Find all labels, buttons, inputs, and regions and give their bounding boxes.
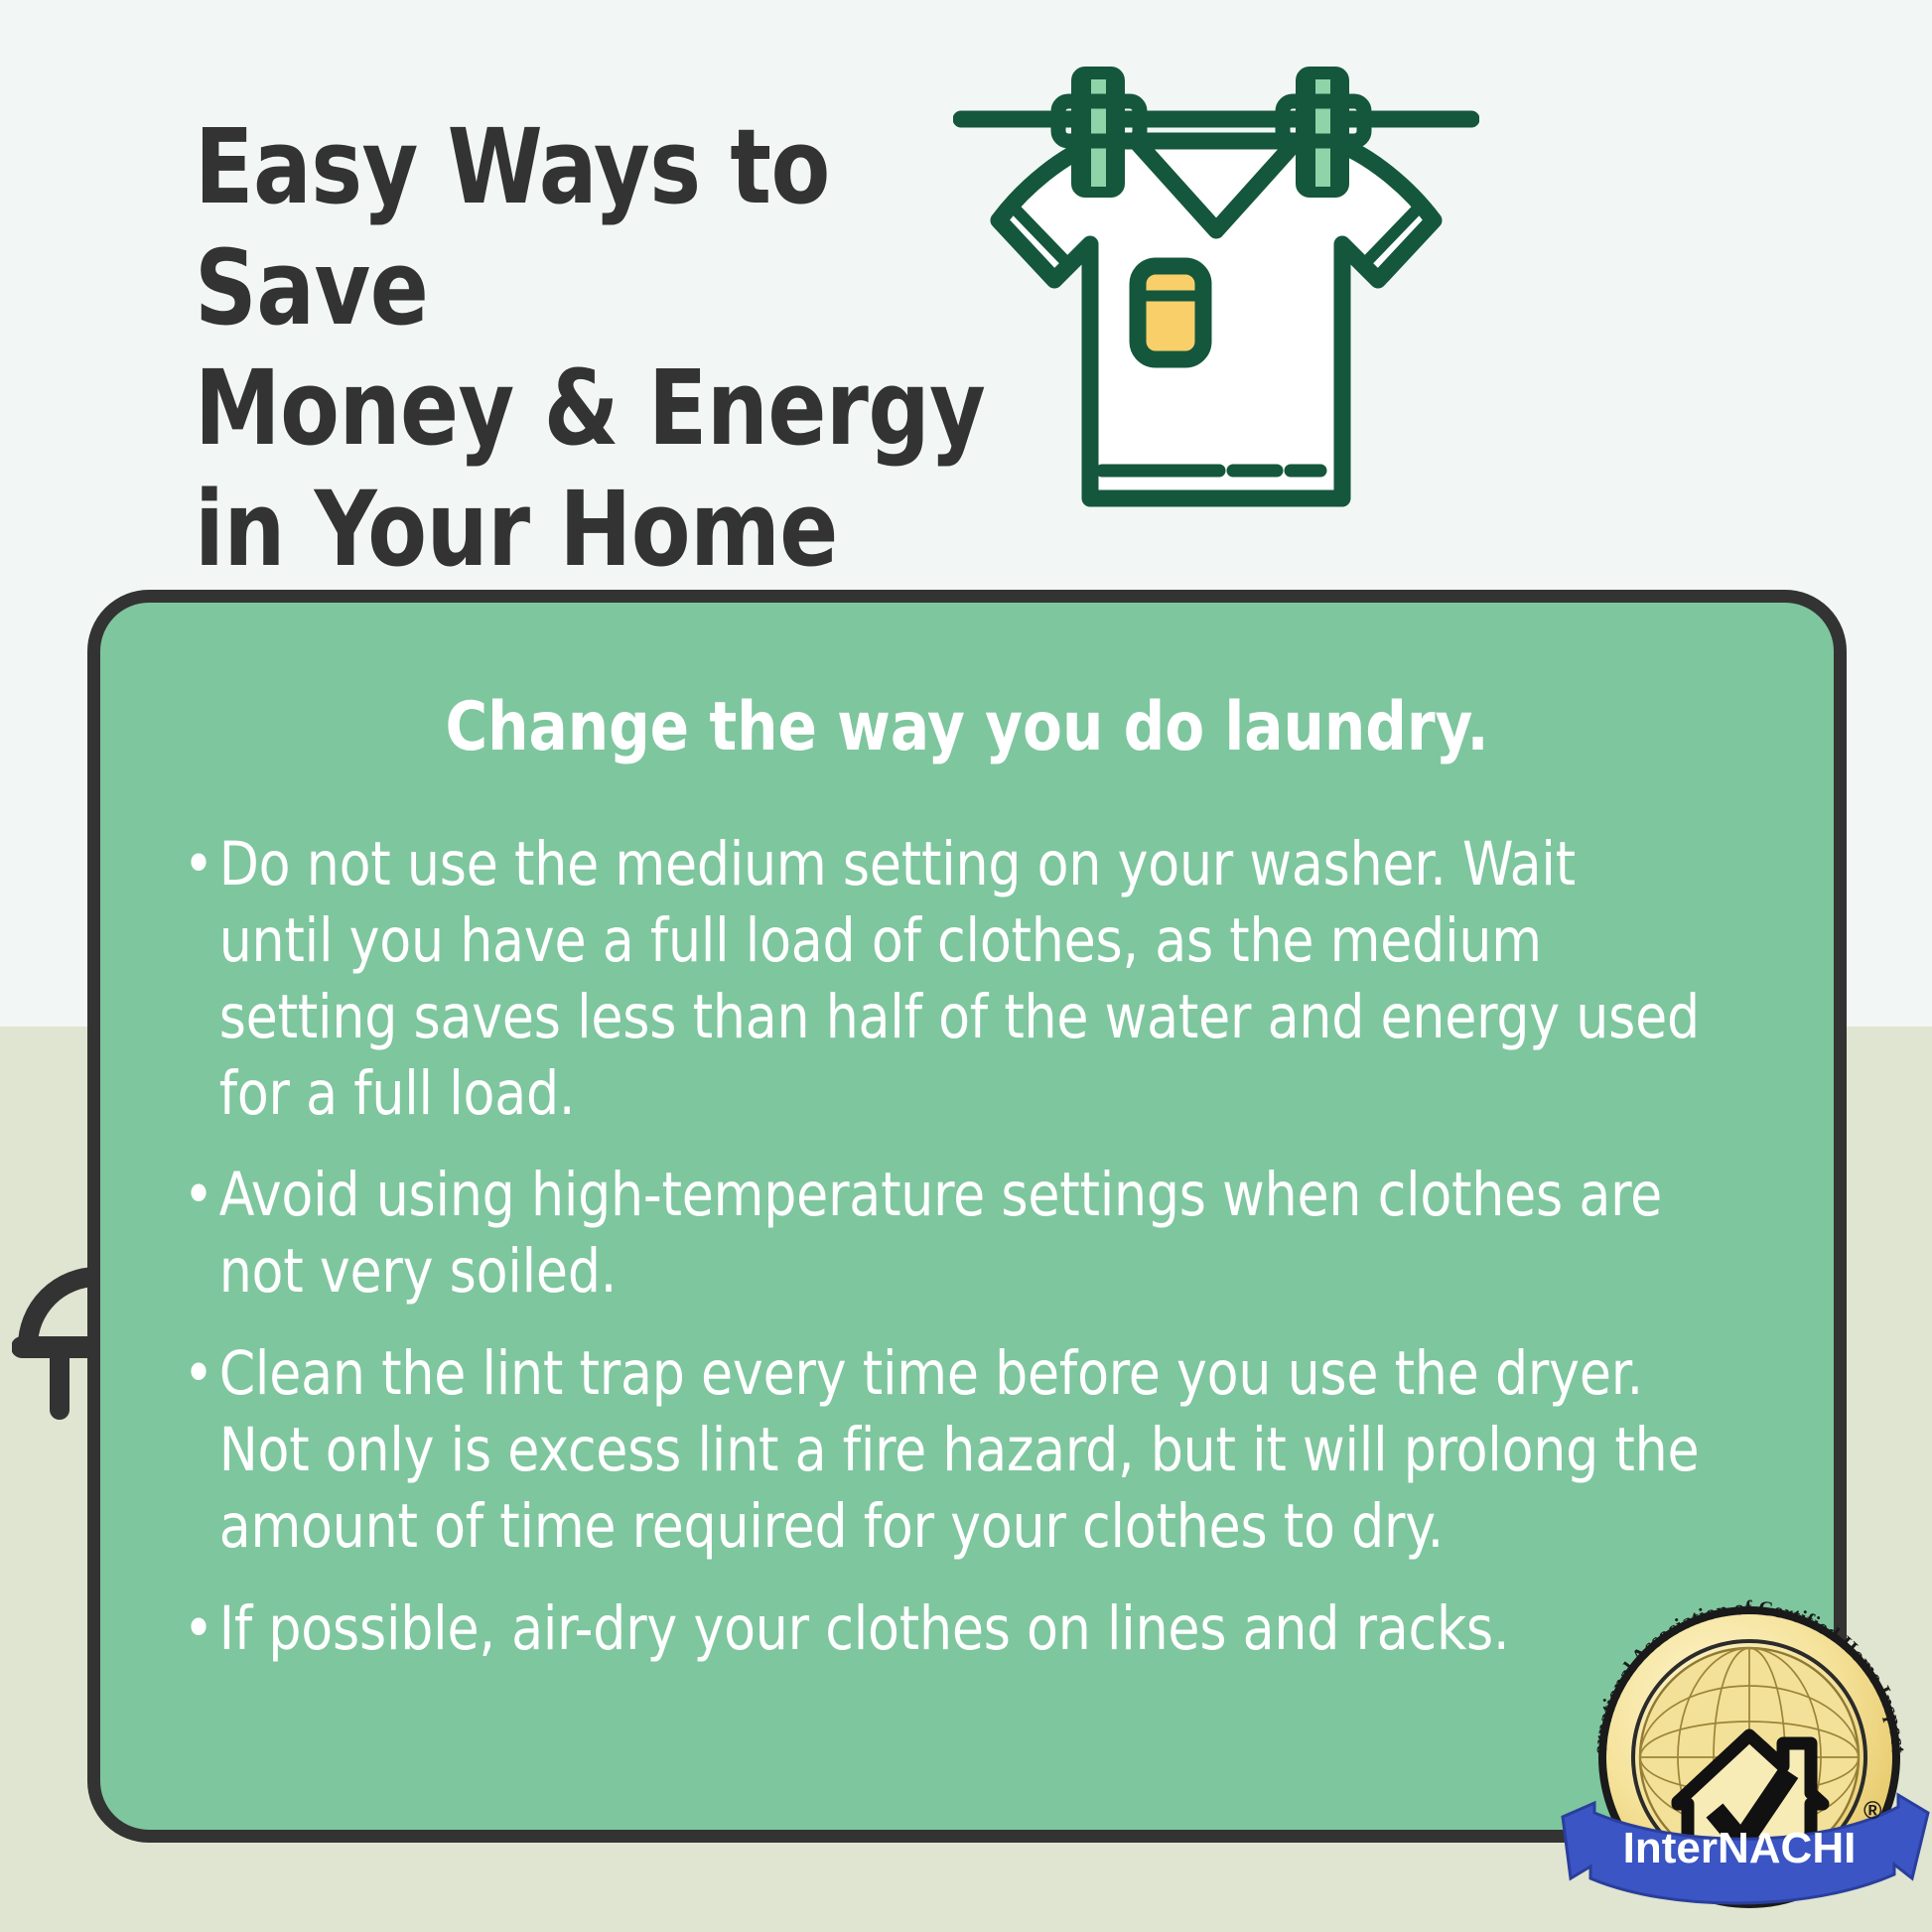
list-item-text: Avoid using high-temperature settings wh… <box>219 1160 1662 1307</box>
list-item: • Do not use the medium setting on your … <box>176 827 1704 1132</box>
infographic-poster: Easy Ways to Save Money & Energy in Your… <box>0 0 1932 1932</box>
tips-list: • Do not use the medium setting on your … <box>176 827 1784 1694</box>
list-item-text: Do not use the medium setting on your wa… <box>219 829 1700 1129</box>
page-title: Easy Ways to Save Money & Energy in Your… <box>195 107 1062 591</box>
internachi-logo: International Association of Certified H… <box>1561 1569 1930 1928</box>
bullet-marker: • <box>184 827 214 903</box>
t-shirt-body <box>999 141 1434 498</box>
t-shirt-clothesline-illustration <box>953 50 1479 516</box>
bullet-marker: • <box>184 1591 214 1668</box>
bullet-marker: • <box>184 1336 214 1413</box>
bullet-marker: • <box>184 1158 214 1234</box>
t-shirt-chest-pocket <box>1138 266 1203 359</box>
logo-ribbon-text: InterNACHI <box>1623 1824 1857 1872</box>
logo-registered-mark: ® <box>1863 1797 1882 1825</box>
list-item-text: If possible, air-dry your clothes on lin… <box>219 1593 1510 1664</box>
card-heading: Change the way you do laundry. <box>144 694 1791 761</box>
list-item: • Avoid using high-temperature settings … <box>176 1158 1704 1311</box>
list-item-text: Clean the lint trap every time before yo… <box>219 1338 1700 1562</box>
list-item: • If possible, air-dry your clothes on l… <box>176 1591 1704 1668</box>
list-item: • Clean the lint trap every time before … <box>176 1336 1704 1566</box>
